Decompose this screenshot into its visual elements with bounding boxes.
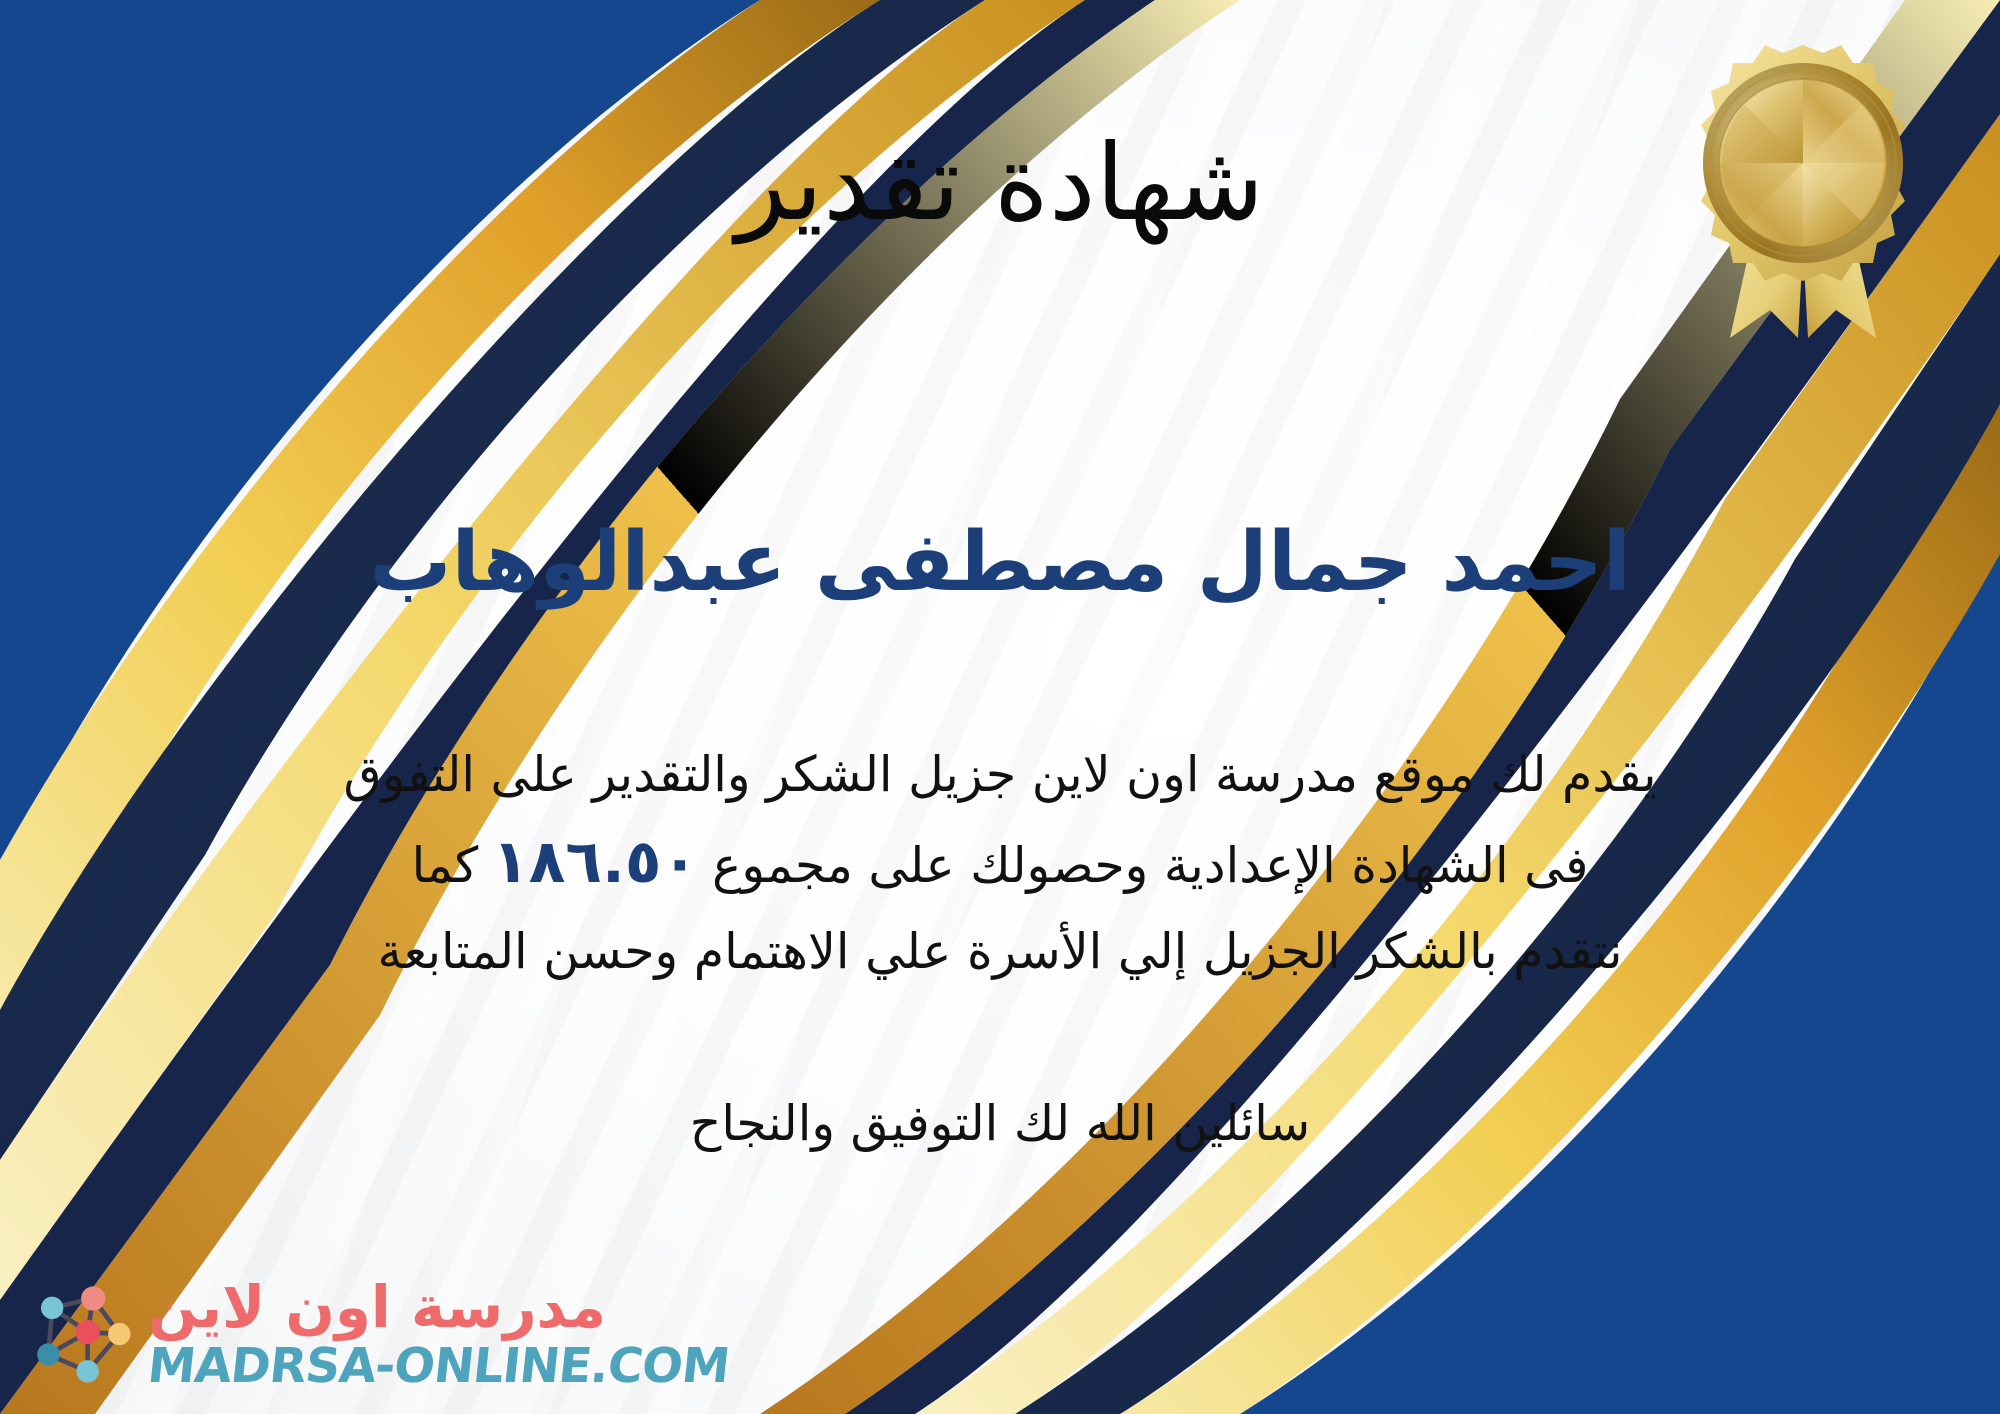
certificate-page: شهادة تقدير احمد جمال مصطفى عبدالوهاب يق… bbox=[0, 0, 2000, 1414]
closing-wish: سائلين الله لك التوفيق والنجاح bbox=[0, 1095, 2000, 1152]
body-line-2: فى الشهادة الإعدادية وحصولك على مجموع١٨٦… bbox=[55, 814, 1945, 911]
brand-text: مدرسة اون لاين MADRSA-ONLINE.COM bbox=[148, 1278, 729, 1390]
brand-name-arabic: مدرسة اون لاين bbox=[148, 1278, 606, 1336]
medal-center-face bbox=[1719, 79, 1887, 247]
body-line-3: نتقدم بالشكر الجزيل إلي الأسرة علي الاهت… bbox=[55, 912, 1945, 991]
recipient-name: احمد جمال مصطفى عبدالوهاب bbox=[0, 516, 2000, 610]
gold-award-medal-icon bbox=[1678, 38, 1928, 348]
network-nodes-icon bbox=[26, 1278, 138, 1390]
total-score-value: ١٨٦.٥٠ bbox=[478, 827, 712, 897]
brand-website[interactable]: MADRSA-ONLINE.COM bbox=[145, 1342, 731, 1390]
body-line-1: يقدم لك موقع مدرسة اون لاين جزيل الشكر و… bbox=[55, 735, 1945, 814]
certificate-body: يقدم لك موقع مدرسة اون لاين جزيل الشكر و… bbox=[55, 735, 1945, 991]
brand-logo[interactable]: مدرسة اون لاين MADRSA-ONLINE.COM bbox=[26, 1278, 729, 1390]
body-line-2-prefix: فى الشهادة الإعدادية وحصولك على مجموع bbox=[712, 837, 1588, 894]
body-line-2-suffix: كما bbox=[412, 837, 479, 894]
